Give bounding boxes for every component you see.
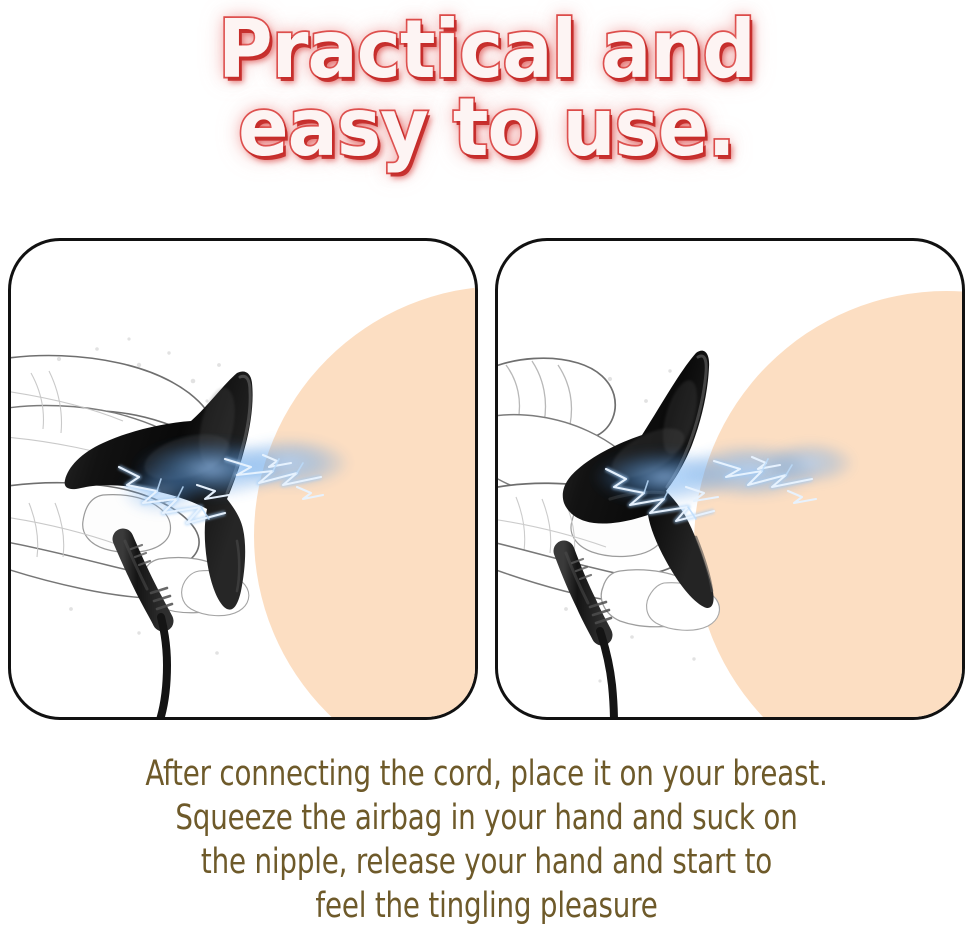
instruction-panel-step-1	[8, 238, 478, 720]
instruction-panels	[8, 238, 965, 720]
electric-spark	[119, 437, 351, 523]
caption-line-1: After connecting the cord, place it on y…	[58, 752, 914, 796]
headline-line-2: easy to use.	[34, 86, 939, 170]
step-1-illustration	[11, 241, 478, 720]
headline-line-1: Practical and	[34, 8, 939, 92]
product-usage-infographic: Practical and easy to use.	[0, 0, 973, 940]
caption-line-3: the nipple, release your hand and start …	[58, 840, 914, 884]
instruction-panel-step-2	[495, 238, 965, 720]
instruction-caption: After connecting the cord, place it on y…	[0, 752, 973, 928]
caption-line-4: feel the tingling pleasure	[58, 884, 914, 928]
caption-line-2: Squeeze the airbag in your hand and suck…	[58, 796, 914, 840]
step-2-illustration	[498, 241, 965, 720]
headline: Practical and easy to use.	[0, 8, 973, 170]
